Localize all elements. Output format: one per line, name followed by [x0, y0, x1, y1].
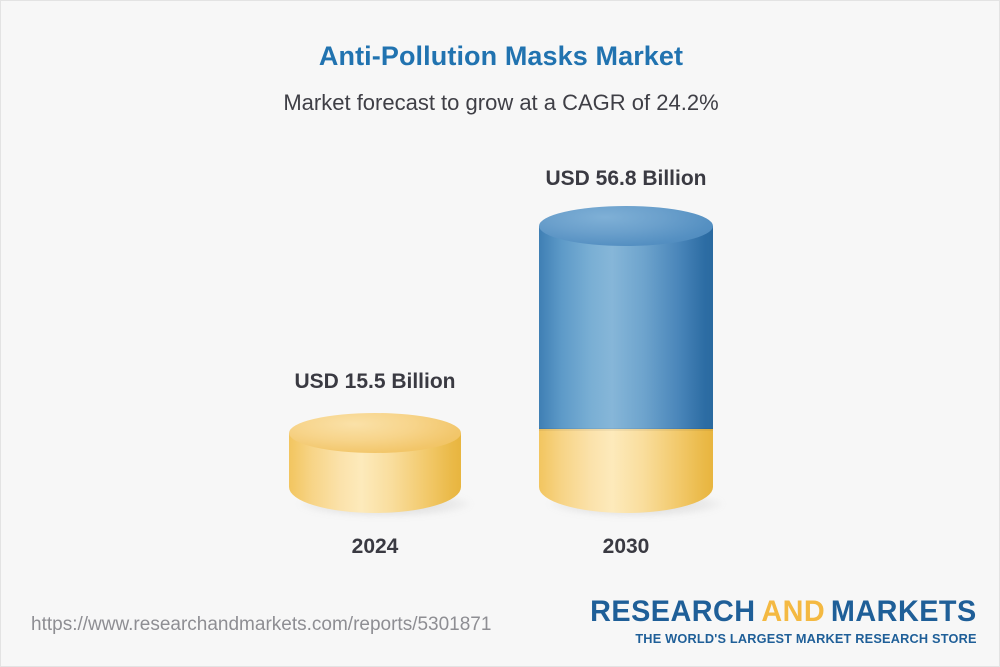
- bar-body-blue-2030: [539, 226, 713, 429]
- brand-logo[interactable]: RESEARCHANDMARKETS THE WORLD'S LARGEST M…: [574, 596, 977, 646]
- footer: https://www.researchandmarkets.com/repor…: [1, 588, 1000, 666]
- bar-band-divider-2030: [539, 428, 713, 431]
- bar-top-cap-2024: [289, 413, 461, 453]
- bar-body-yellow-2030: [539, 429, 713, 513]
- brand-logo-wordmark: RESEARCHANDMARKETS: [590, 596, 977, 628]
- category-label-2024: 2024: [275, 535, 475, 559]
- plot-area: USD 56.8 Billion USD 15.5 Billion: [1, 1, 1000, 601]
- bar-face-yellow-2030: [539, 429, 713, 513]
- brand-logo-tagline: THE WORLD'S LARGEST MARKET RESEARCH STOR…: [582, 631, 977, 646]
- value-label-2030: USD 56.8 Billion: [526, 167, 726, 191]
- brand-logo-research: RESEARCH: [590, 595, 755, 628]
- bar-cylinder-2024[interactable]: [289, 413, 461, 513]
- value-label-2024: USD 15.5 Billion: [275, 370, 475, 394]
- chart-canvas: Anti-Pollution Masks Market Market forec…: [0, 0, 1000, 667]
- bar-face-blue-2030: [539, 226, 713, 429]
- bar-cylinder-2030[interactable]: [539, 206, 713, 513]
- bar-top-cap-2030: [539, 206, 713, 246]
- report-url[interactable]: https://www.researchandmarkets.com/repor…: [31, 614, 491, 636]
- brand-logo-markets: MARKETS: [831, 595, 977, 628]
- brand-logo-and: AND: [762, 595, 826, 628]
- category-label-2030: 2030: [526, 535, 726, 559]
